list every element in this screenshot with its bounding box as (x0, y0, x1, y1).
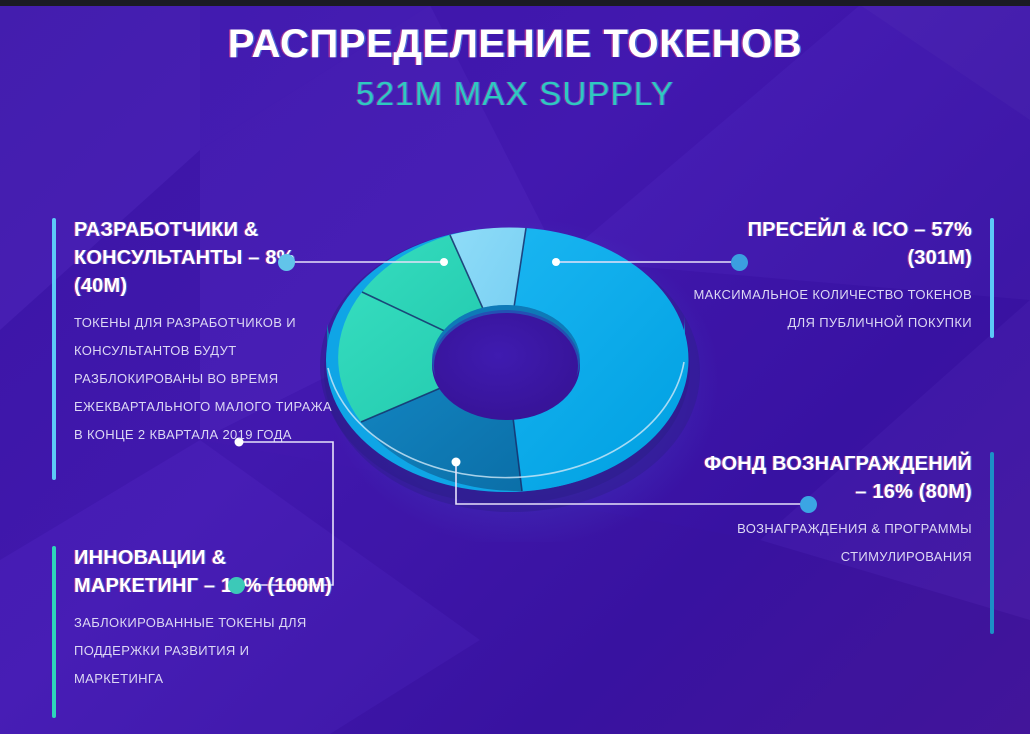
legend-block-presale: ПРЕСЕЙЛ & ICO – 57% (301M) МАКСИМАЛЬНОЕ … (690, 216, 972, 337)
legend-block-innovation: ИННОВАЦИИ & МАРКЕТИНГ – 19% (100M) ЗАБЛО… (74, 544, 342, 693)
page-title: РАСПРЕДЕЛЕНИЕ ТОКЕНОВ (0, 22, 1030, 67)
legend-block-developers: РАЗРАБОТЧИКИ & КОНСУЛЬТАНТЫ – 8% (40M) Т… (74, 216, 336, 449)
legend-dot-presale (731, 254, 748, 271)
legend-dot-developers (278, 254, 295, 271)
accent-bar-innovation (52, 546, 56, 718)
token-distribution-donut-chart (300, 200, 730, 540)
accent-bar-fund (990, 452, 994, 634)
accent-bar-presale (990, 218, 994, 338)
page-subtitle: 521M MAX SUPPLY (0, 75, 1030, 113)
legend-title-fund: ФОНД ВОЗНАГРАЖДЕНИЙ – 16% (80M) (690, 450, 972, 506)
top-strip (0, 0, 1030, 6)
legend-body-presale: МАКСИМАЛЬНОЕ КОЛИЧЕСТВО ТОКЕНОВ ДЛЯ ПУБЛ… (690, 281, 972, 337)
legend-body-innovation: ЗАБЛОКИРОВАННЫЕ ТОКЕНЫ ДЛЯ ПОДДЕРЖКИ РАЗ… (74, 609, 342, 693)
legend-dot-innovation (228, 577, 245, 594)
legend-body-fund: ВОЗНАГРАЖДЕНИЯ & ПРОГРАММЫ СТИМУЛИРОВАНИ… (690, 515, 972, 571)
legend-title-developers: РАЗРАБОТЧИКИ & КОНСУЛЬТАНТЫ – 8% (40M) (74, 216, 336, 300)
legend-body-developers: ТОКЕНЫ ДЛЯ РАЗРАБОТЧИКОВ И КОНСУЛЬТАНТОВ… (74, 309, 336, 449)
legend-title-innovation: ИННОВАЦИИ & МАРКЕТИНГ – 19% (100M) (74, 544, 342, 600)
accent-bar-developers (52, 218, 56, 480)
legend-block-fund: ФОНД ВОЗНАГРАЖДЕНИЙ – 16% (80M) ВОЗНАГРА… (690, 450, 972, 571)
legend-dot-fund (800, 496, 817, 513)
header: РАСПРЕДЕЛЕНИЕ ТОКЕНОВ 521M MAX SUPPLY (0, 0, 1030, 113)
